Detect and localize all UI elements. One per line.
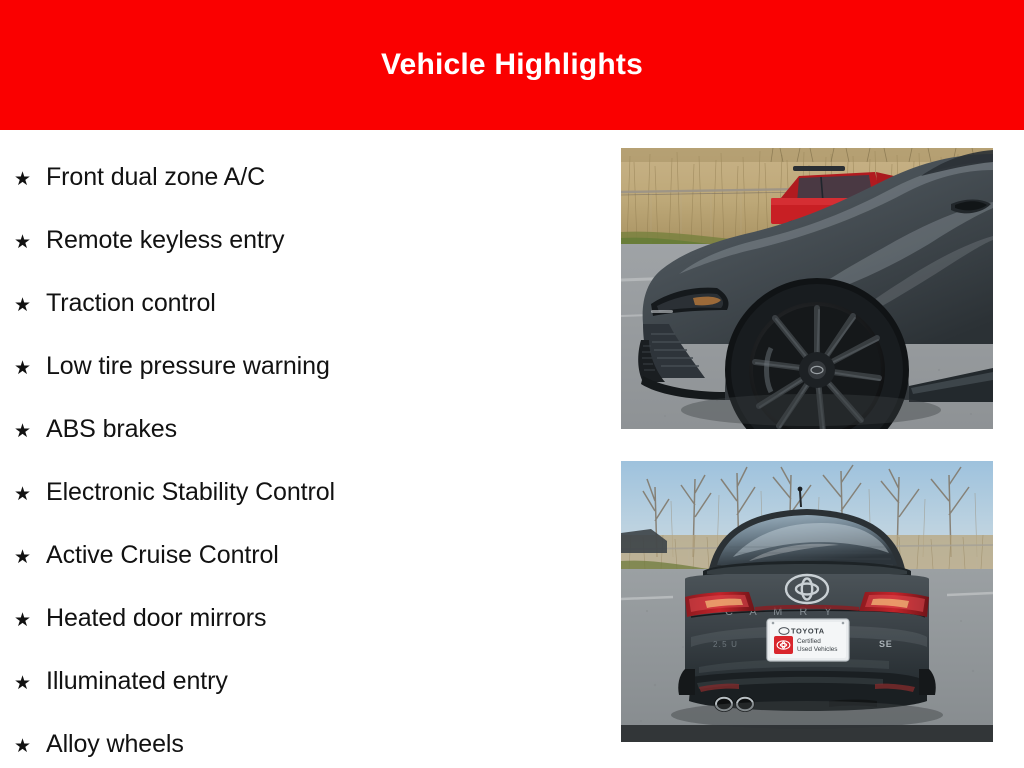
star-icon: ★ (14, 526, 46, 589)
star-icon: ★ (14, 337, 46, 400)
star-icon: ★ (14, 652, 46, 715)
highlight-label: Traction control (46, 272, 594, 335)
star-icon: ★ (14, 463, 46, 526)
highlight-label: Active Cruise Control (46, 524, 594, 587)
list-item: ★ Low tire pressure warning (14, 335, 594, 398)
list-item: ★ Traction control (14, 272, 594, 335)
highlight-label: Heated door mirrors (46, 587, 594, 650)
list-item: ★ Remote keyless entry (14, 209, 594, 272)
vehicle-highlights-list: ★ Front dual zone A/C ★ Remote keyless e… (14, 146, 594, 768)
highlight-label: Electronic Stability Control (46, 461, 594, 524)
star-icon: ★ (14, 274, 46, 337)
list-item: ★ Illuminated entry (14, 650, 594, 713)
highlight-label: Front dual zone A/C (46, 146, 594, 209)
highlight-label: Alloy wheels (46, 713, 594, 768)
star-icon: ★ (14, 589, 46, 652)
vehicle-highlights-page: Vehicle Highlights ★ Front dual zone A/C… (0, 0, 1024, 768)
vehicle-photo-front-quarter-graphic (621, 148, 993, 429)
svg-text:Used Vehicles: Used Vehicles (797, 646, 838, 653)
highlight-label: ABS brakes (46, 398, 594, 461)
vehicle-photo-front-quarter[interactable] (621, 148, 993, 429)
list-item: ★ Electronic Stability Control (14, 461, 594, 524)
svg-text:SE: SE (879, 639, 893, 649)
list-item: ★ Heated door mirrors (14, 587, 594, 650)
list-item: ★ Front dual zone A/C (14, 146, 594, 209)
list-item: ★ ABS brakes (14, 398, 594, 461)
header-banner: Vehicle Highlights (0, 0, 1024, 130)
highlight-label: Low tire pressure warning (46, 335, 594, 398)
svg-text:Certified: Certified (797, 638, 821, 645)
page-title: Vehicle Highlights (381, 50, 643, 80)
star-icon: ★ (14, 400, 46, 463)
star-icon: ★ (14, 148, 46, 211)
star-icon: ★ (14, 715, 46, 768)
vehicle-photo-rear-graphic: C A M R Y TOYOTA (621, 461, 993, 742)
list-item: ★ Active Cruise Control (14, 524, 594, 587)
list-item: ★ Alloy wheels (14, 713, 594, 768)
vehicle-photo-rear[interactable]: C A M R Y TOYOTA (621, 461, 993, 742)
star-icon: ★ (14, 211, 46, 274)
svg-text:TOYOTA: TOYOTA (791, 627, 825, 636)
highlight-label: Remote keyless entry (46, 209, 594, 272)
svg-text:2.5 U: 2.5 U (713, 640, 738, 649)
highlight-label: Illuminated entry (46, 650, 594, 713)
